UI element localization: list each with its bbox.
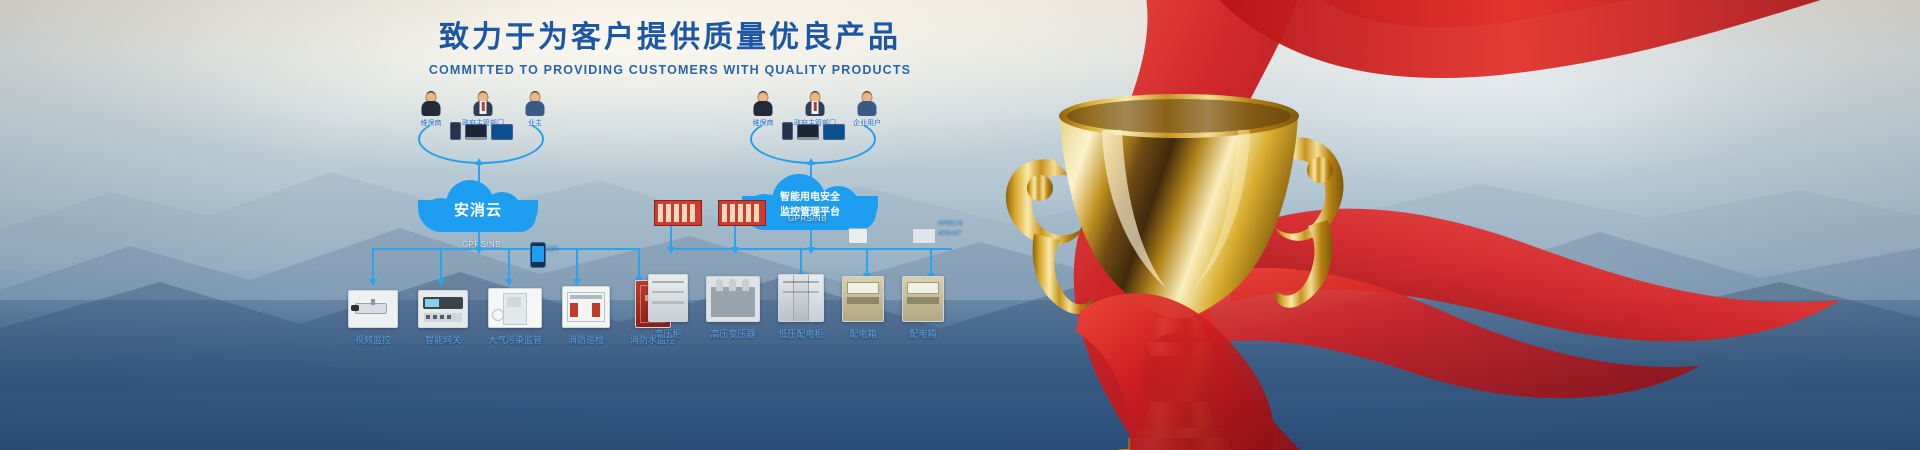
distribution-box-icon: [842, 276, 884, 322]
monitor-icon: [823, 124, 845, 140]
device-label: 消防巡检: [568, 333, 604, 346]
laptop-icon: [797, 124, 819, 140]
device-hv-cabinet: 高压柜: [648, 274, 688, 340]
device-bus-line: [372, 248, 640, 250]
trophy-decoration: [880, 0, 1920, 450]
air-monitor-icon: [488, 288, 542, 328]
low-voltage-switchgear-icon: [778, 274, 824, 322]
cloud-label: 安消云: [454, 199, 502, 220]
cloud-node-power-platform: 智能用电安全 监控管理平台: [742, 172, 878, 230]
device-label: 视频监控: [355, 333, 391, 346]
app-tag: APP: [546, 246, 558, 252]
device-air-monitor: 大气污染监管: [488, 288, 542, 346]
drop-line: [866, 248, 868, 274]
device-fire-inspection: 消防巡检: [562, 286, 610, 346]
cloud-label-line1: 智能用电安全: [780, 190, 840, 205]
person-icon: [524, 92, 546, 116]
promo-banner: 致力于为客户提供质量优良产品 COMMITTED TO PROVIDING CU…: [0, 0, 1920, 450]
fire-inspection-panel-icon: [562, 286, 610, 328]
transformer-icon: [706, 276, 760, 322]
cloud-label-line2: 监控管理平台: [780, 205, 840, 220]
person-icon: [472, 92, 494, 116]
person-icon: [752, 92, 774, 116]
mobile-app-icon: [530, 242, 546, 268]
laptop-icon: [465, 124, 487, 140]
device-label: 智能网关: [425, 333, 461, 346]
drop-line: [508, 248, 510, 280]
device-label: 高压变压器: [710, 327, 755, 340]
device-row-left: 视频监控 智能网关: [348, 280, 675, 346]
meter-device-icon: [848, 228, 868, 244]
drop-line: [372, 248, 374, 280]
device-distribution-box-1: 配电箱: [842, 276, 884, 340]
monitor-icon: [491, 124, 513, 140]
person-icon: [804, 92, 826, 116]
device-transformer: 高压变压器: [706, 276, 760, 340]
client-devices-left: [450, 122, 513, 140]
breaker-bank-icon: [654, 200, 702, 226]
device-cctv: 视频监控: [348, 290, 398, 346]
high-voltage-cabinet-icon: [648, 274, 688, 322]
phone-icon: [782, 122, 793, 140]
cctv-camera-icon: [348, 290, 398, 328]
person-icon: [856, 92, 878, 116]
device-lv-switchgear: 低压配电柜: [778, 274, 824, 340]
drop-line: [576, 248, 578, 280]
device-label: 配电箱: [849, 327, 876, 340]
device-gateway: 智能网关: [418, 290, 468, 346]
device-label: 低压配电柜: [778, 327, 823, 340]
person-icon: [420, 92, 442, 116]
cloud-node-anxiaoyun: 安消云: [418, 178, 538, 232]
gateway-device-icon: [418, 290, 468, 328]
client-devices-right: [782, 122, 845, 140]
drop-line: [800, 248, 802, 274]
device-label: 大气污染监管: [488, 333, 542, 346]
phone-icon: [450, 122, 461, 140]
device-label: 高压柜: [654, 327, 681, 340]
drop-line: [440, 248, 442, 280]
